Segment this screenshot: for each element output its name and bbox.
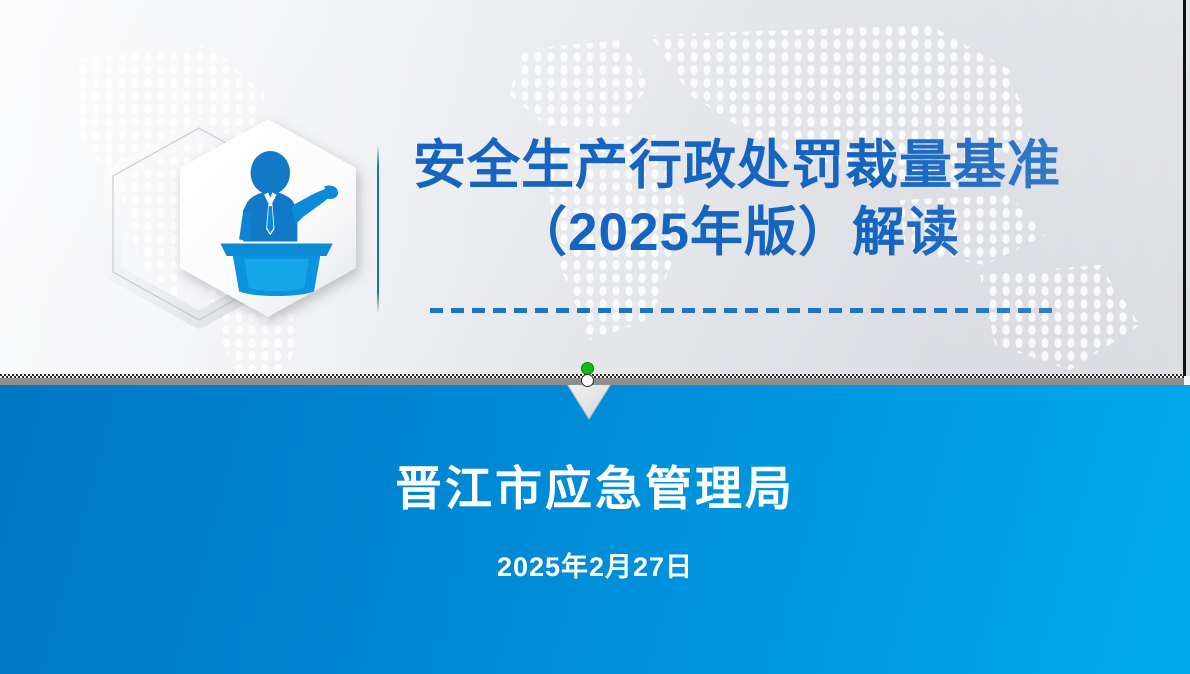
slide-lower-section: 晋江市应急管理局 2025年2月27日 [0,385,1190,674]
presentation-date: 2025年2月27日 [0,550,1190,584]
hexagon-front-shape [170,114,366,322]
hexagon-emblem [104,112,366,336]
title-line-1: 安全生产行政处罚裁量基准 [392,132,1082,199]
shape-selection-border-right[interactable] [1183,0,1186,376]
top-middle-resize-handle[interactable] [581,374,594,387]
title-line-2: （2025年版）解读 [392,199,1082,266]
presentation-slide: 安全生产行政处罚裁量基准 （2025年版）解读 晋江市应急管理局 2025年2月… [0,0,1190,674]
organization-name: 晋江市应急管理局 [0,460,1190,518]
title-vertical-rule [377,146,379,312]
slide-upper-section: 安全生产行政处罚裁量基准 （2025年版）解读 [0,0,1190,376]
slide-title: 安全生产行政处罚裁量基准 （2025年版）解读 [392,132,1082,266]
title-dashed-underline [430,308,1056,313]
